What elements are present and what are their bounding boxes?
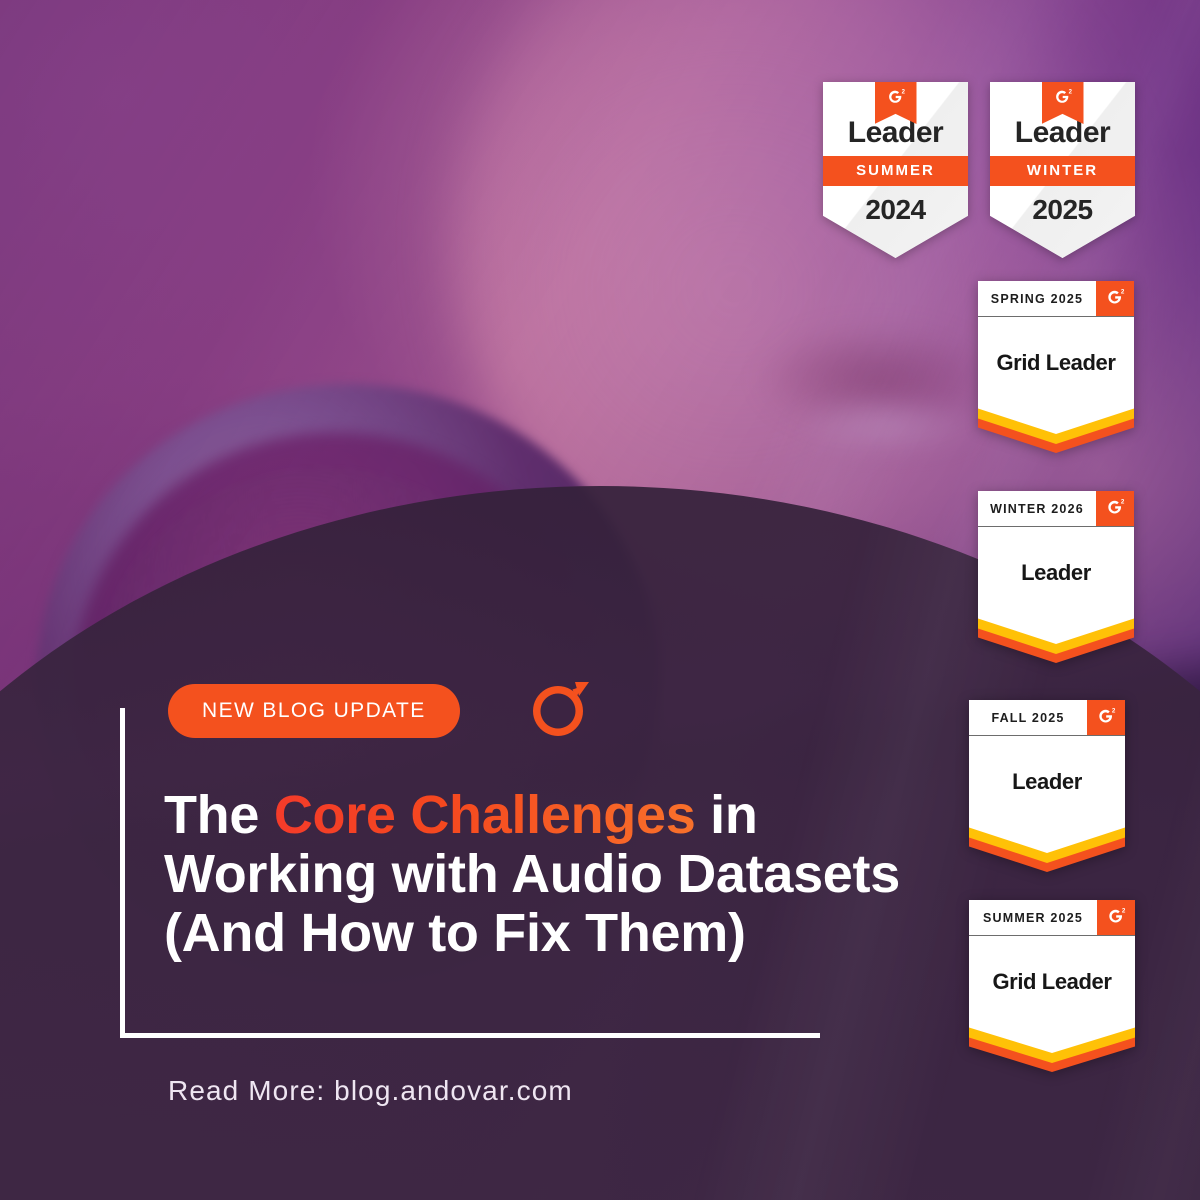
badge-header: SUMMER 2025 2	[969, 900, 1135, 936]
badge-header: WINTER 2026 2	[978, 491, 1134, 527]
badge-chevron	[978, 619, 1134, 663]
eyebrow-badge: NEW BLOG UPDATE	[168, 684, 460, 738]
promo-graphic-canvas: NEW BLOG UPDATE The Core Challenges in W…	[0, 0, 1200, 1200]
svg-text:2: 2	[1068, 89, 1072, 95]
g2-logo-icon: 2	[1087, 700, 1125, 735]
badge-chevron	[978, 409, 1134, 453]
g2-badge-grid-leader-summer-2025[interactable]: SUMMER 2025 2 Grid Leader	[969, 900, 1135, 1072]
g2-badge-grid-leader-spring-2025[interactable]: SPRING 2025 2 Grid Leader	[978, 281, 1134, 453]
headline-line-1: The Core Challenges in	[164, 786, 964, 845]
badge-header: SPRING 2025 2	[978, 281, 1134, 317]
g2-logo-icon: 2	[1096, 491, 1134, 526]
svg-text:2: 2	[1120, 499, 1124, 506]
badge-year: 2024	[823, 194, 968, 226]
svg-text:2: 2	[901, 89, 905, 95]
headline-accent: Core Challenges	[274, 785, 696, 845]
svg-text:2: 2	[1120, 289, 1124, 296]
eyebrow-label: NEW BLOG UPDATE	[202, 699, 426, 723]
read-more-link[interactable]: Read More: blog.andovar.com	[168, 1075, 573, 1107]
g2-badge-leader-fall-2025[interactable]: FALL 2025 2 Leader	[969, 700, 1125, 872]
andovar-logo-icon	[523, 676, 593, 746]
headline-suffix: in	[695, 785, 757, 845]
badge-season: FALL 2025	[969, 700, 1087, 735]
headline-line-3: (And How to Fix Them)	[164, 904, 964, 963]
badge-season: SUMMER	[816, 156, 975, 186]
page-title: The Core Challenges in Working with Audi…	[164, 786, 964, 963]
g2-logo-icon: 2	[1097, 900, 1135, 935]
badge-season: SPRING 2025	[978, 281, 1096, 316]
content-layer: NEW BLOG UPDATE The Core Challenges in W…	[0, 0, 1200, 1200]
badge-chevron	[969, 1028, 1135, 1072]
badge-body: 2 Leader SUMMER 2024	[823, 82, 968, 258]
badge-title: Leader	[990, 116, 1135, 150]
g2-badge-leader-summer-2024[interactable]: 2 Leader SUMMER 2024	[823, 82, 968, 258]
badge-body: 2 Leader WINTER 2025	[990, 82, 1135, 258]
badge-year: 2025	[990, 194, 1135, 226]
badge-season: WINTER	[983, 156, 1142, 186]
svg-text:2: 2	[1111, 708, 1115, 715]
headline-prefix: The	[164, 785, 274, 845]
svg-text:2: 2	[1121, 908, 1125, 915]
g2-badge-leader-winter-2026[interactable]: WINTER 2026 2 Leader	[978, 491, 1134, 663]
g2-logo-icon: 2	[1096, 281, 1134, 316]
badge-header: FALL 2025 2	[969, 700, 1125, 736]
badge-chevron	[969, 828, 1125, 872]
headline-line-2: Working with Audio Datasets	[164, 845, 964, 904]
badge-season: SUMMER 2025	[969, 900, 1097, 935]
g2-badge-leader-winter-2025[interactable]: 2 Leader WINTER 2025	[990, 82, 1135, 258]
badge-season: WINTER 2026	[978, 491, 1096, 526]
badge-title: Leader	[823, 116, 968, 150]
